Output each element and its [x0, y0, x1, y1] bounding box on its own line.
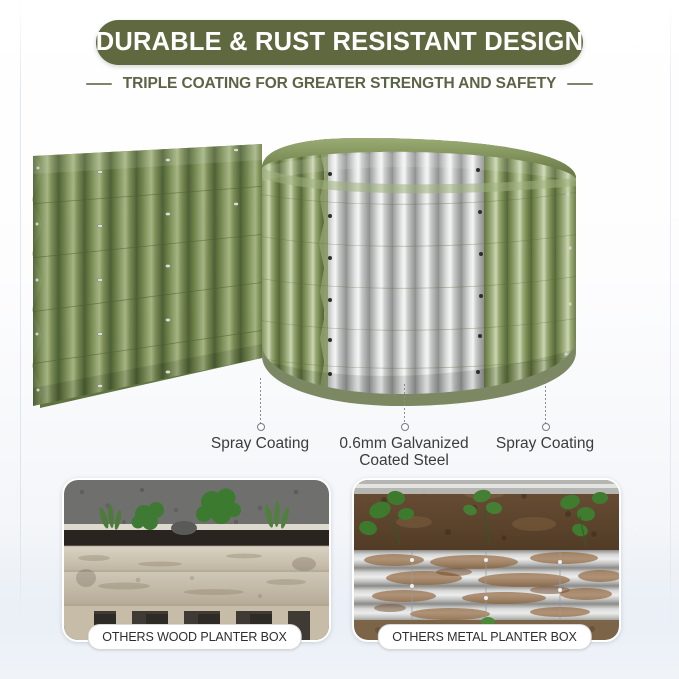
page-title: DURABLE & RUST RESISTANT DESIGN — [96, 28, 583, 57]
callout-label-galvanized-steel: 0.6mm Galvanized Coated Steel — [324, 435, 484, 469]
planter-body — [258, 128, 580, 408]
comparison-cards: OTHERS WOOD PLANTER BOX — [0, 478, 679, 653]
comparison-card-metal: OTHERS METAL PLANTER BOX — [352, 478, 617, 653]
wood-planter-photo — [64, 480, 329, 640]
metal-card-caption: OTHERS METAL PLANTER BOX — [377, 624, 591, 650]
metal-photo-card — [352, 478, 621, 642]
leader-knob — [401, 423, 409, 431]
leader-dots — [260, 378, 261, 424]
galvanized-steel-cutaway — [324, 128, 484, 408]
callout-leader-2 — [404, 384, 405, 424]
callout-label-spray-coating-left: Spray Coating — [180, 435, 340, 452]
leader-dots — [404, 384, 405, 424]
title-badge: DURABLE & RUST RESISTANT DESIGN — [96, 20, 583, 65]
leader-knob — [542, 423, 550, 431]
leader-dots — [545, 378, 546, 424]
subtitle-dash-right — [567, 83, 593, 85]
subtitle-row: TRIPLE COATING FOR GREATER STRENGTH AND … — [0, 71, 679, 97]
callout-group: Spray Coating 0.6mm Galvanized Coated St… — [0, 378, 679, 468]
comparison-card-wood: OTHERS WOOD PLANTER BOX — [62, 478, 327, 653]
leader-knob — [257, 423, 265, 431]
subtitle-dash-left — [86, 83, 112, 85]
wood-photo-card — [62, 478, 331, 642]
callout-leader-3 — [545, 378, 546, 424]
metal-planter-photo — [354, 480, 619, 640]
wood-card-caption: OTHERS WOOD PLANTER BOX — [87, 624, 302, 650]
page-subtitle: TRIPLE COATING FOR GREATER STRENGTH AND … — [123, 75, 556, 93]
rusty-corrugated-wall — [354, 550, 619, 622]
product-infographic: DURABLE & RUST RESISTANT DESIGN TRIPLE C… — [0, 0, 679, 679]
callout-leader-1 — [260, 378, 261, 424]
callout-label-spray-coating-right: Spray Coating — [465, 435, 625, 452]
